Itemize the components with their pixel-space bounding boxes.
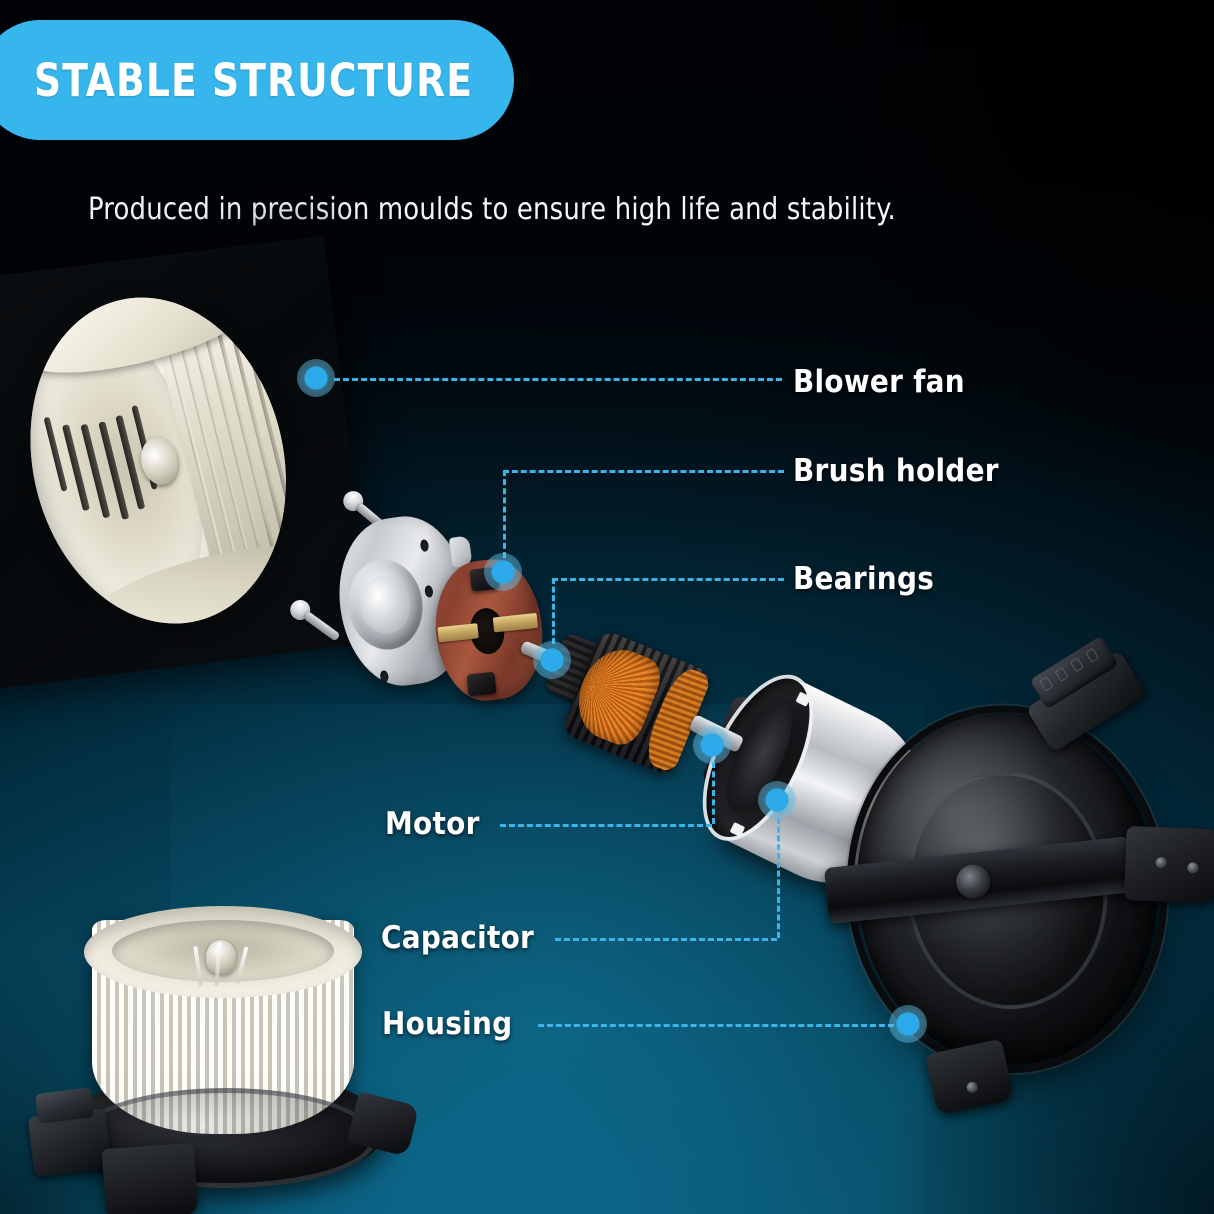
subtitle-text: Produced in precision moulds to ensure h… (88, 192, 896, 227)
part-blower-housing (809, 630, 1214, 1126)
leader-line-blower-fan (334, 378, 782, 381)
fan-drum (0, 270, 319, 651)
callout-label-capacitor: Capacitor (381, 920, 534, 956)
callout-label-motor: Motor (385, 806, 480, 842)
header-badge: STABLE STRUCTURE (0, 20, 514, 140)
leader-line-capacitor-horizontal (555, 938, 777, 941)
part-brush-holder-plate (429, 555, 549, 705)
leader-line-motor-horizontal (500, 824, 712, 827)
page-title: STABLE STRUCTURE (34, 54, 473, 107)
callout-label-brush-holder: Brush holder (793, 453, 999, 489)
leader-line-brush-holder-horizontal (503, 470, 784, 473)
leader-line-housing (538, 1024, 894, 1027)
callout-label-blower-fan: Blower fan (793, 364, 965, 400)
part-assembled-blower (18, 912, 418, 1212)
callout-label-bearings: Bearings (793, 561, 934, 597)
leader-line-bearings-vertical (552, 578, 555, 644)
leader-line-bearings-horizontal (552, 578, 784, 581)
assembly-bracket-bottom (102, 1143, 199, 1214)
brush-box-bottom (467, 672, 497, 697)
leader-line-capacitor-vertical (777, 818, 780, 938)
brush-box-top (470, 567, 500, 592)
callout-label-housing: Housing (382, 1006, 512, 1042)
housing-mount-bracket-right (1124, 826, 1214, 903)
leader-line-motor-vertical (712, 762, 715, 824)
infographic-canvas: STABLE STRUCTURE Produced in precision m… (0, 0, 1214, 1214)
leader-line-brush-holder-vertical (503, 470, 506, 558)
